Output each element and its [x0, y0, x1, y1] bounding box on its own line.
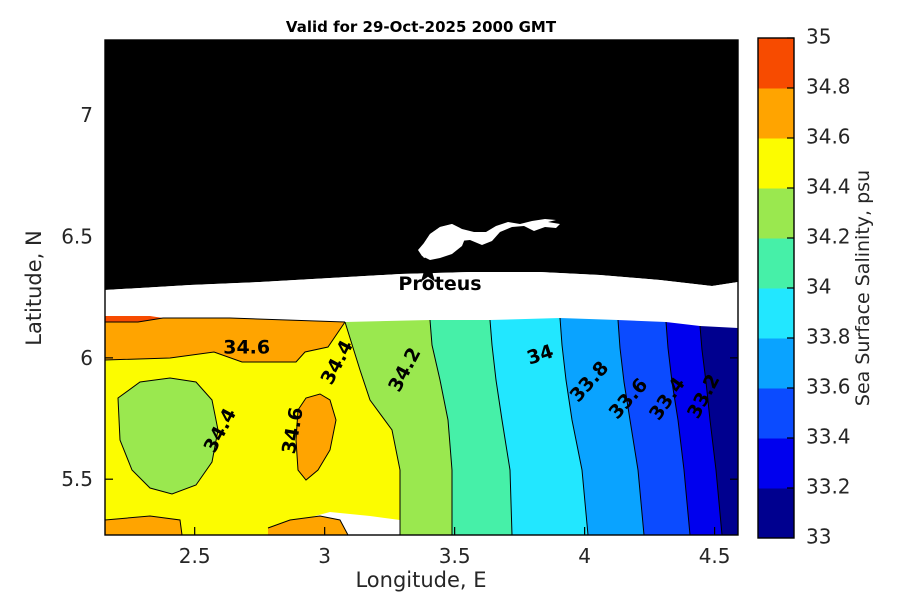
- x-tick-label-4: 4.5: [699, 544, 731, 568]
- colorbar-tick-label-5: 34: [806, 275, 831, 299]
- contour-fill-layer: [105, 316, 738, 535]
- colorbar-tick-label-10: 35: [806, 25, 831, 49]
- colorbar-band-33-33.2: [758, 488, 794, 539]
- contour-label-34-6-0: 34.6: [223, 337, 270, 359]
- colorbar-tick-label-8: 34.6: [806, 125, 851, 149]
- colorbar-band-34.2-34.4: [758, 188, 794, 239]
- x-tick-label-1: 3: [318, 544, 331, 568]
- colorbar-band-34.4-34.6: [758, 138, 794, 189]
- salinity-contour-figure: Valid for 29-Oct-2025 2000 GMT: [0, 0, 900, 600]
- colorbar-tick-label-9: 34.8: [806, 75, 851, 99]
- colorbar-band-33.2-33.4: [758, 438, 794, 489]
- colorbar-band-34.6-34.8: [758, 88, 794, 139]
- y-tick-label-3: 7: [80, 103, 93, 127]
- colorbar-tick-label-1: 33.2: [806, 475, 851, 499]
- x-tick-label-2: 3.5: [439, 544, 471, 568]
- colorbar-band-34-34.2: [758, 238, 794, 289]
- x-axis-label: Longitude, E: [355, 568, 486, 592]
- colorbar-tick-label-3: 33.6: [806, 375, 851, 399]
- map-axes: Proteus 34.634.434.634.434.23433.833.633…: [22, 40, 738, 592]
- colorbar-tick-label-2: 33.4: [806, 425, 851, 449]
- colorbar-label: Sea Surface Salinity, psu: [852, 170, 874, 406]
- colorbar-tick-label-7: 34.4: [806, 175, 851, 199]
- colorbar-band-33.8-34: [758, 288, 794, 339]
- colorbar-band-34.8-35: [758, 38, 794, 89]
- colorbar-tick-label-4: 33.8: [806, 325, 851, 349]
- colorbar-tick-label-6: 34.2: [806, 225, 851, 249]
- station-label: Proteus: [398, 273, 481, 295]
- colorbar-band-33.4-33.6: [758, 388, 794, 439]
- y-tick-label-0: 5.5: [61, 467, 93, 491]
- y-tick-label-1: 6: [80, 346, 93, 370]
- y-axis-label: Latitude, N: [22, 230, 46, 346]
- figure-title: Valid for 29-Oct-2025 2000 GMT: [286, 18, 557, 36]
- x-tick-label-3: 4: [578, 544, 591, 568]
- colorbar-band-33.6-33.8: [758, 338, 794, 389]
- x-tick-label-0: 2.5: [179, 544, 211, 568]
- y-tick-label-2: 6.5: [61, 225, 93, 249]
- colorbar-tick-label-0: 33: [806, 525, 831, 549]
